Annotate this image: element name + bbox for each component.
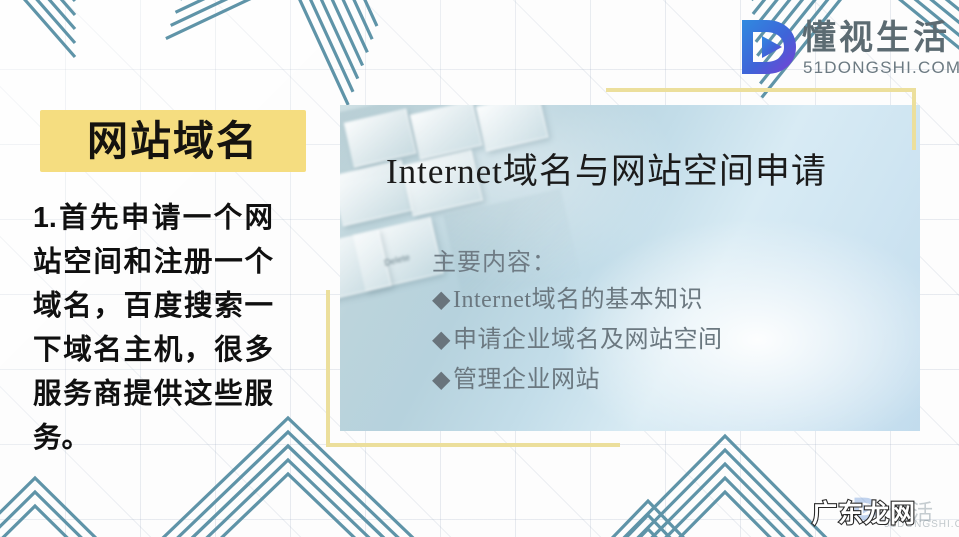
watermark-text: 广东龙网 — [812, 494, 916, 530]
list-item: ◆Internet域名的基本知识 — [432, 280, 722, 320]
list-item-label: 申请企业域名及网站空间 — [453, 327, 723, 353]
brand-logo: 懂视生活 51DONGSHI.COM — [736, 14, 951, 84]
diamond-bullet-icon: ◆ — [432, 327, 451, 353]
diamond-bullet-icon: ◆ — [432, 367, 451, 393]
keycap-label: Delete — [383, 252, 411, 268]
logo-d-play-icon — [736, 16, 798, 78]
slide-canvas: 网站域名 1.首先申请一个网站空间和注册一个域名，百度搜索一下域名主机，很多服务… — [0, 0, 959, 537]
slide-background-image: Delete Internet域名与网站空间申请 主要内容： ◆Internet… — [340, 105, 920, 431]
body-paragraph: 1.首先申请一个网站空间和注册一个域名，百度搜索一下域名主机，很多服务商提供这些… — [33, 196, 273, 460]
diamond-bullet-icon: ◆ — [432, 287, 451, 313]
list-item: ◆申请企业域名及网站空间 — [432, 320, 722, 360]
page-title: 网站域名 — [40, 110, 306, 172]
brand-name: 懂视生活 — [802, 18, 950, 58]
list-item-label: Internet域名的基本知识 — [453, 287, 703, 313]
slide-bullet-list: ◆Internet域名的基本知识 ◆申请企业域名及网站空间 ◆管理企业网站 — [432, 280, 722, 400]
list-item: ◆管理企业网站 — [432, 360, 722, 400]
slide-screenshot: Delete Internet域名与网站空间申请 主要内容： ◆Internet… — [340, 105, 920, 431]
list-item-label: 管理企业网站 — [453, 367, 600, 393]
slide-title: Internet域名与网站空间申请 — [386, 143, 827, 194]
slide-subtitle: 主要内容： — [432, 242, 557, 277]
brand-url: 51DONGSHI.COM — [803, 58, 959, 78]
